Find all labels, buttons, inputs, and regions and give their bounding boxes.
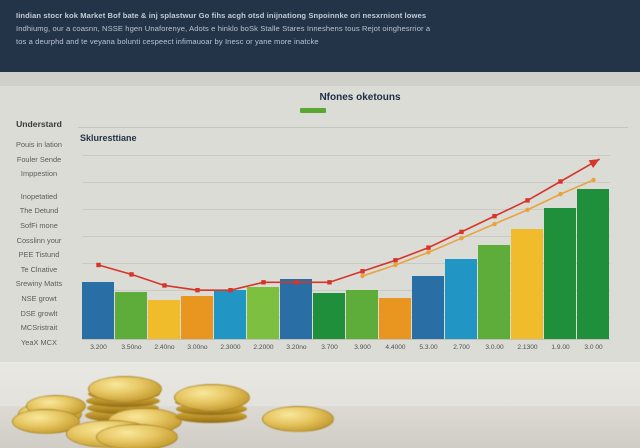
trend-marker	[591, 178, 595, 182]
coin-stack-right-top	[174, 384, 250, 411]
trend-marker	[426, 250, 430, 254]
sidebar: Understard Pouis in lation Fouler Sende …	[0, 86, 78, 358]
sidebar-item-mcsristrait[interactable]: MCSristrait	[0, 321, 78, 336]
trend-line-trend-primary[interactable]	[99, 163, 594, 291]
header-divider-band	[0, 72, 640, 86]
trend-marker	[327, 280, 331, 284]
screenshot-root: Iindian stocr kok Market Bof bate & inj …	[0, 0, 640, 448]
trend-marker	[360, 269, 364, 273]
sidebar-group-gap	[0, 182, 78, 190]
trend-marker	[294, 280, 298, 284]
trend-marker	[96, 263, 100, 267]
x-axis-tick-label: 3.00no	[181, 344, 214, 351]
sidebar-item-imppestion[interactable]: Imppestion	[0, 167, 78, 182]
x-axis-tick-label: 1.9.00	[544, 344, 577, 351]
x-axis-tick-label: 3.20no	[280, 344, 313, 351]
trend-marker	[492, 222, 496, 226]
header-line-1: Iindian stocr kok Market Bof bate & inj …	[16, 9, 624, 22]
chart-x-axis-line	[82, 339, 610, 340]
x-axis-tick-label: 2.2000	[247, 344, 280, 351]
trend-marker	[525, 208, 529, 212]
trend-marker	[261, 280, 265, 284]
sidebar-item-inopetatied[interactable]: Inopetatied	[0, 190, 78, 205]
x-axis-tick-label: 2.1300	[511, 344, 544, 351]
chart-title: Nfones oketouns	[255, 92, 465, 103]
sidebar-item-cosslinn-your[interactable]: Cosslinn your	[0, 234, 78, 249]
trend-marker	[459, 236, 463, 240]
coin-single-right	[262, 406, 334, 432]
x-axis-tick-label: 2.40no	[148, 344, 181, 351]
coin-front-b	[96, 424, 178, 448]
x-axis-tick-label: 3.0.00	[478, 344, 511, 351]
sidebar-item-te-clnative[interactable]: Te Clnative	[0, 263, 78, 278]
chart-x-axis-labels: 3.2003.50no2.40no3.00no2.30002.20003.20n…	[82, 344, 610, 358]
sidebar-item-pee-tistund[interactable]: PEE Tistund	[0, 248, 78, 263]
x-axis-tick-label: 3.50no	[115, 344, 148, 351]
trend-marker	[162, 283, 166, 287]
sidebar-item-yeax-mcx[interactable]: YeaX MCX	[0, 336, 78, 351]
trend-marker	[459, 230, 463, 234]
sidebar-item-pouis-in-lation[interactable]: Pouis in lation	[0, 138, 78, 153]
coin-stack-mid-top	[88, 376, 162, 402]
page-header: Iindian stocr kok Market Bof bate & inj …	[0, 0, 640, 72]
x-axis-tick-label: 3.200	[82, 344, 115, 351]
x-axis-tick-label: 4.4000	[379, 344, 412, 351]
chart-plot-area	[82, 150, 610, 340]
sidebar-item-fouler-sende[interactable]: Fouler Sende	[0, 153, 78, 168]
trend-marker	[525, 198, 529, 202]
sidebar-item-dse-growlt[interactable]: DSE growlt	[0, 307, 78, 322]
trend-marker	[129, 272, 133, 276]
x-axis-tick-label: 3.700	[313, 344, 346, 351]
sidebar-item-nse-growt[interactable]: NSE growt	[0, 292, 78, 307]
sidebar-list: Pouis in lation Fouler Sende Imppestion …	[0, 138, 78, 350]
trend-marker	[228, 288, 232, 292]
sidebar-item-srewiny-matts[interactable]: Srewiny Matts	[0, 277, 78, 292]
x-axis-tick-label: 2.3000	[214, 344, 247, 351]
gold-coins-photo	[0, 362, 640, 448]
x-axis-tick-label: 2.700	[445, 344, 478, 351]
x-axis-tick-label: 5.3.00	[412, 344, 445, 351]
trend-marker	[558, 179, 562, 183]
trend-marker	[426, 245, 430, 249]
sidebar-item-the-detund[interactable]: The Detund	[0, 204, 78, 219]
sidebar-title: Understard	[0, 119, 78, 129]
trend-marker	[393, 258, 397, 262]
x-axis-tick-label: 3.900	[346, 344, 379, 351]
x-axis-tick-label: 3.0 00	[577, 344, 610, 351]
trend-marker	[393, 263, 397, 267]
trend-marker	[492, 214, 496, 218]
chart-trend-lines	[82, 110, 610, 342]
trend-marker	[195, 288, 199, 292]
sidebar-item-soffi-mone[interactable]: SofFi mone	[0, 219, 78, 234]
header-line-2: Indhiumg, our a coasnn, NSSE hgen Unafor…	[16, 22, 624, 35]
trend-marker	[360, 274, 364, 278]
trend-marker	[558, 192, 562, 196]
header-line-3: tos a deurphd and te veyana bolunti cesp…	[16, 35, 624, 48]
